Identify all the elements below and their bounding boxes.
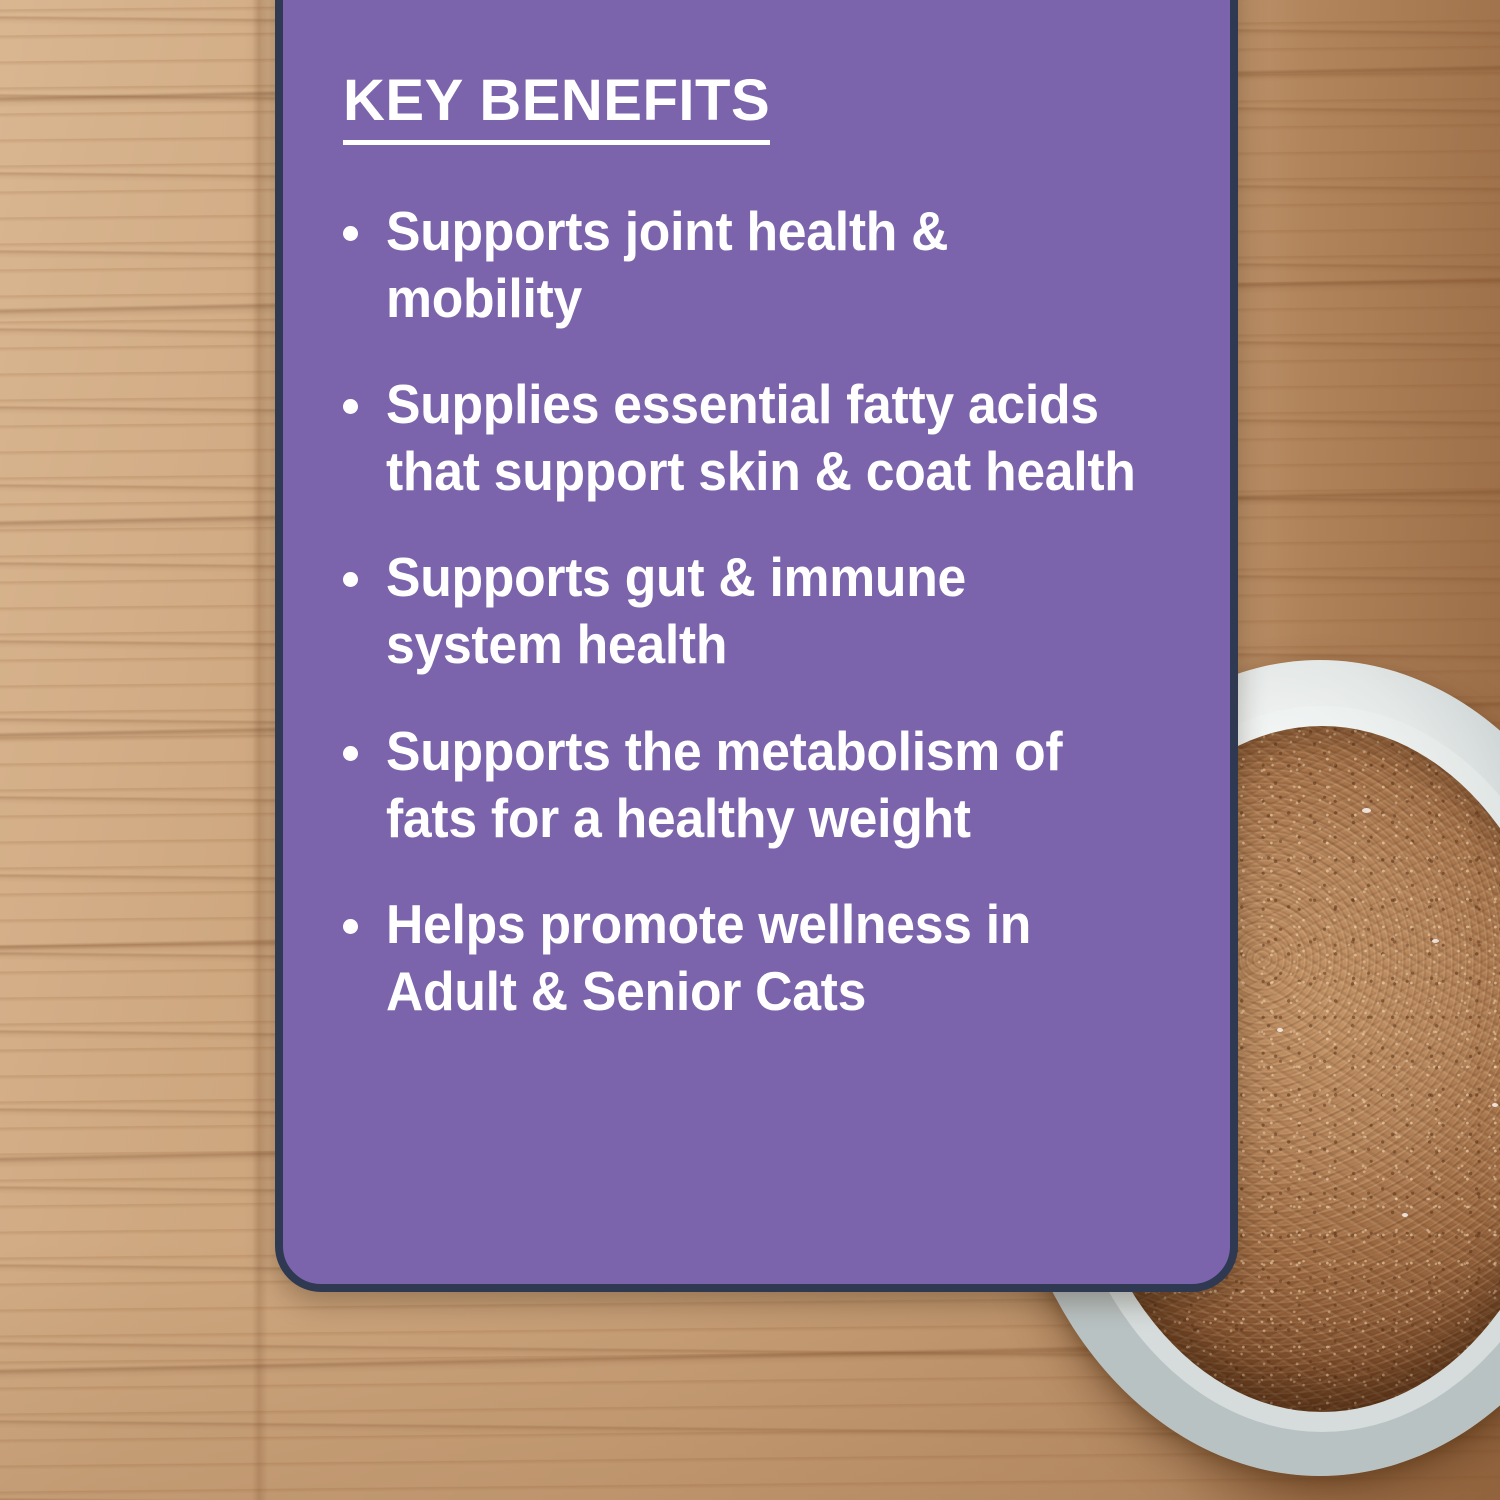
- key-benefits-card: KEY BENEFITS Supports joint health & mob…: [275, 0, 1238, 1292]
- bullet-icon: [343, 919, 358, 934]
- bullet-icon: [343, 226, 358, 241]
- benefit-text: Supports the metabolism of fats for a he…: [386, 718, 1154, 852]
- benefit-item: Supports the metabolism of fats for a he…: [343, 718, 1203, 852]
- powder-fleck: [1362, 808, 1371, 813]
- card-content: KEY BENEFITS Supports joint health & mob…: [283, 0, 1230, 1284]
- benefit-text: Supports joint health & mobility: [386, 198, 1154, 332]
- benefit-item: Supports joint health & mobility: [343, 198, 1203, 332]
- benefit-item: Helps promote wellness in Adult & Senior…: [343, 891, 1203, 1025]
- powder-fleck: [1432, 939, 1439, 943]
- powder-fleck: [1492, 1103, 1498, 1107]
- benefit-text: Helps promote wellness in Adult & Senior…: [386, 891, 1154, 1025]
- product-benefits-graphic: KEY BENEFITS Supports joint health & mob…: [0, 0, 1500, 1500]
- bullet-icon: [343, 572, 358, 587]
- benefit-item: Supports gut & immune system health: [343, 544, 1203, 678]
- benefit-text: Supplies essential fatty acids that supp…: [386, 371, 1154, 505]
- bullet-icon: [343, 399, 358, 414]
- benefit-text: Supports gut & immune system health: [386, 544, 1154, 678]
- benefit-item: Supplies essential fatty acids that supp…: [343, 371, 1203, 505]
- powder-fleck: [1277, 1028, 1283, 1032]
- card-title: KEY BENEFITS: [343, 72, 770, 145]
- benefits-list: Supports joint health & mobility Supplie…: [343, 198, 1203, 1064]
- powder-fleck: [1402, 1213, 1408, 1217]
- bullet-icon: [343, 746, 358, 761]
